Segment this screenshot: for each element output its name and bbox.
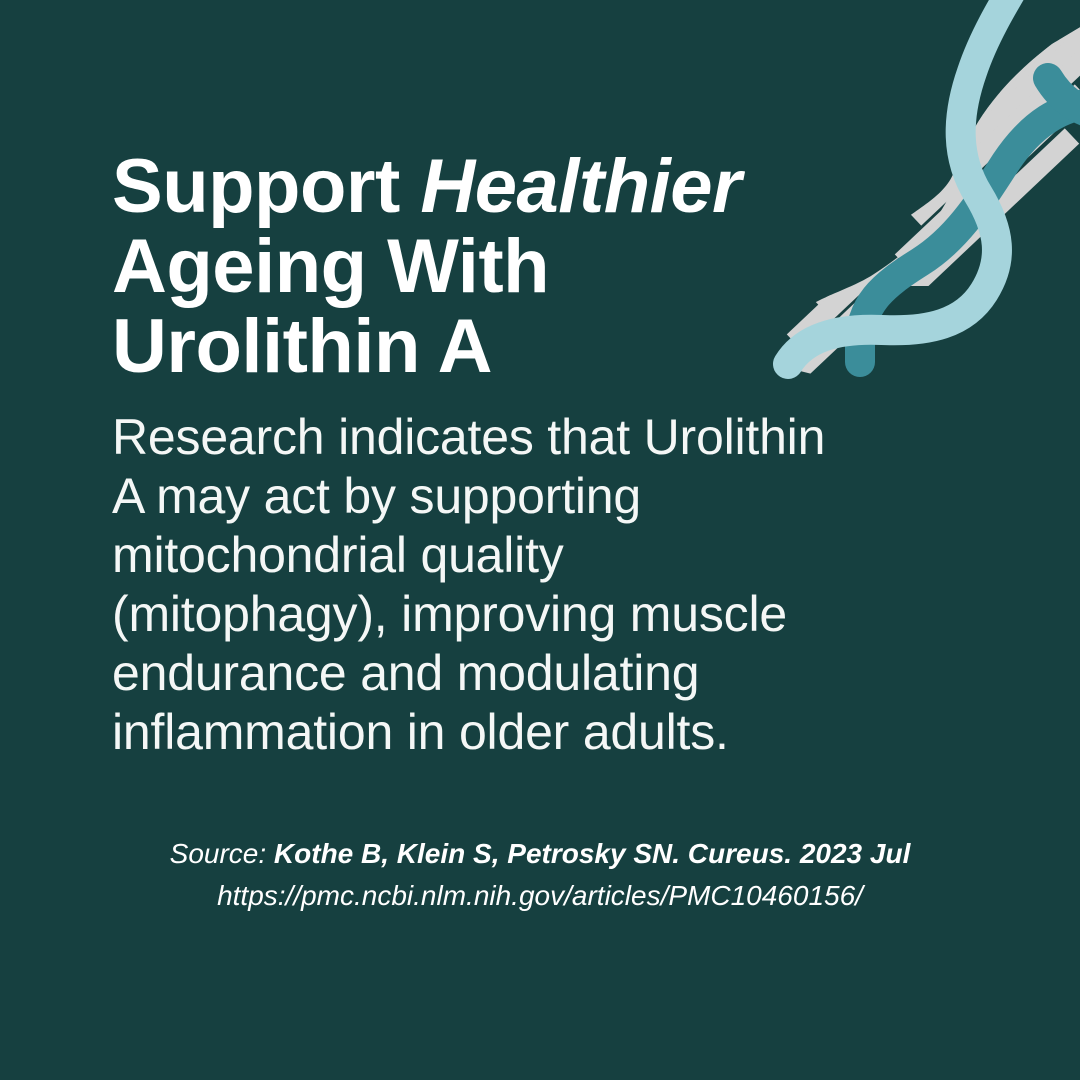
citation-label: Source: [170, 838, 267, 869]
body-line: mitochondrial quality [112, 526, 962, 585]
citation-reference: Kothe B, Klein S, Petrosky SN. Cureus. 2… [274, 838, 910, 869]
headline-line-3: Urolithin A [112, 307, 832, 387]
dna-strand-dark-tail [1048, 78, 1080, 116]
social-post-card: Support Healthier Ageing With Urolithin … [0, 0, 1080, 1080]
body-line: (mitophagy), improving muscle [112, 585, 962, 644]
body-line: inflammation in older adults. [112, 703, 962, 762]
dna-rungs-upper [892, 0, 1080, 306]
body-paragraph: Research indicates that Urolithin A may … [112, 408, 962, 762]
citation-url[interactable]: https://pmc.ncbi.nlm.nih.gov/articles/PM… [0, 875, 1080, 917]
source-citation: Source: Kothe B, Klein S, Petrosky SN. C… [0, 833, 1080, 917]
headline-prefix: Support [112, 144, 420, 229]
page-title: Support Healthier Ageing With Urolithin … [112, 147, 832, 386]
headline-line-1: Support Healthier [112, 147, 832, 227]
dna-strand-dark [860, 102, 1080, 362]
headline-line-2: Ageing With [112, 227, 832, 307]
citation-reference-line: Source: Kothe B, Klein S, Petrosky SN. C… [0, 833, 1080, 875]
body-line: Research indicates that Urolithin [112, 408, 962, 467]
body-line: A may act by supporting [112, 467, 962, 526]
headline-emphasis: Healthier [420, 144, 741, 229]
body-line: endurance and modulating [112, 644, 962, 703]
